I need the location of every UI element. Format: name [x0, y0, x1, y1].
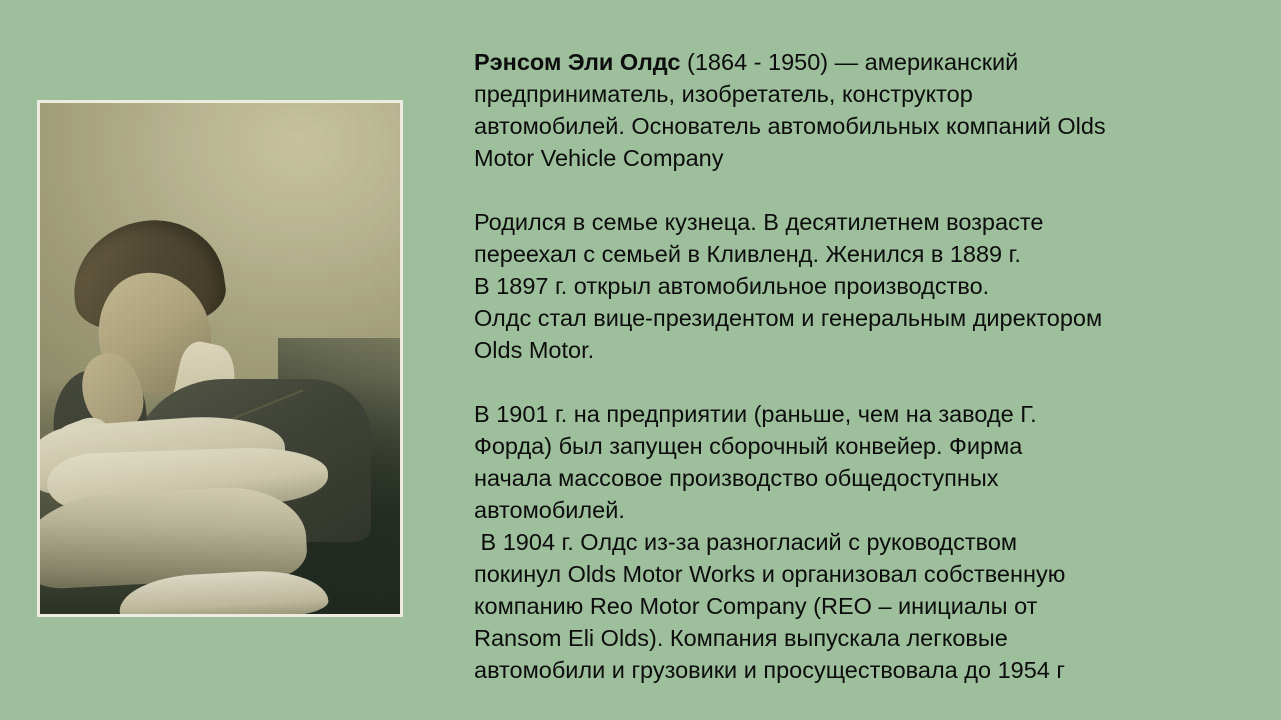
paragraph-early-life: Родился в семье кузнеца. В десятилетнем …: [474, 206, 1106, 366]
portrait-photo: [40, 103, 400, 614]
person-name: Рэнсом Эли Олдс: [474, 49, 681, 75]
portrait-photo-frame: [37, 100, 403, 617]
person-lifespan: (1864 - 1950) —: [681, 49, 859, 75]
biography-text-column: Рэнсом Эли Олдс (1864 - 1950) — американ…: [474, 46, 1106, 686]
slide: Рэнсом Эли Олдс (1864 - 1950) — американ…: [0, 0, 1281, 720]
paragraph-intro: Рэнсом Эли Олдс (1864 - 1950) — американ…: [474, 46, 1106, 174]
paragraph-career: В 1901 г. на предприятии (раньше, чем на…: [474, 398, 1106, 686]
